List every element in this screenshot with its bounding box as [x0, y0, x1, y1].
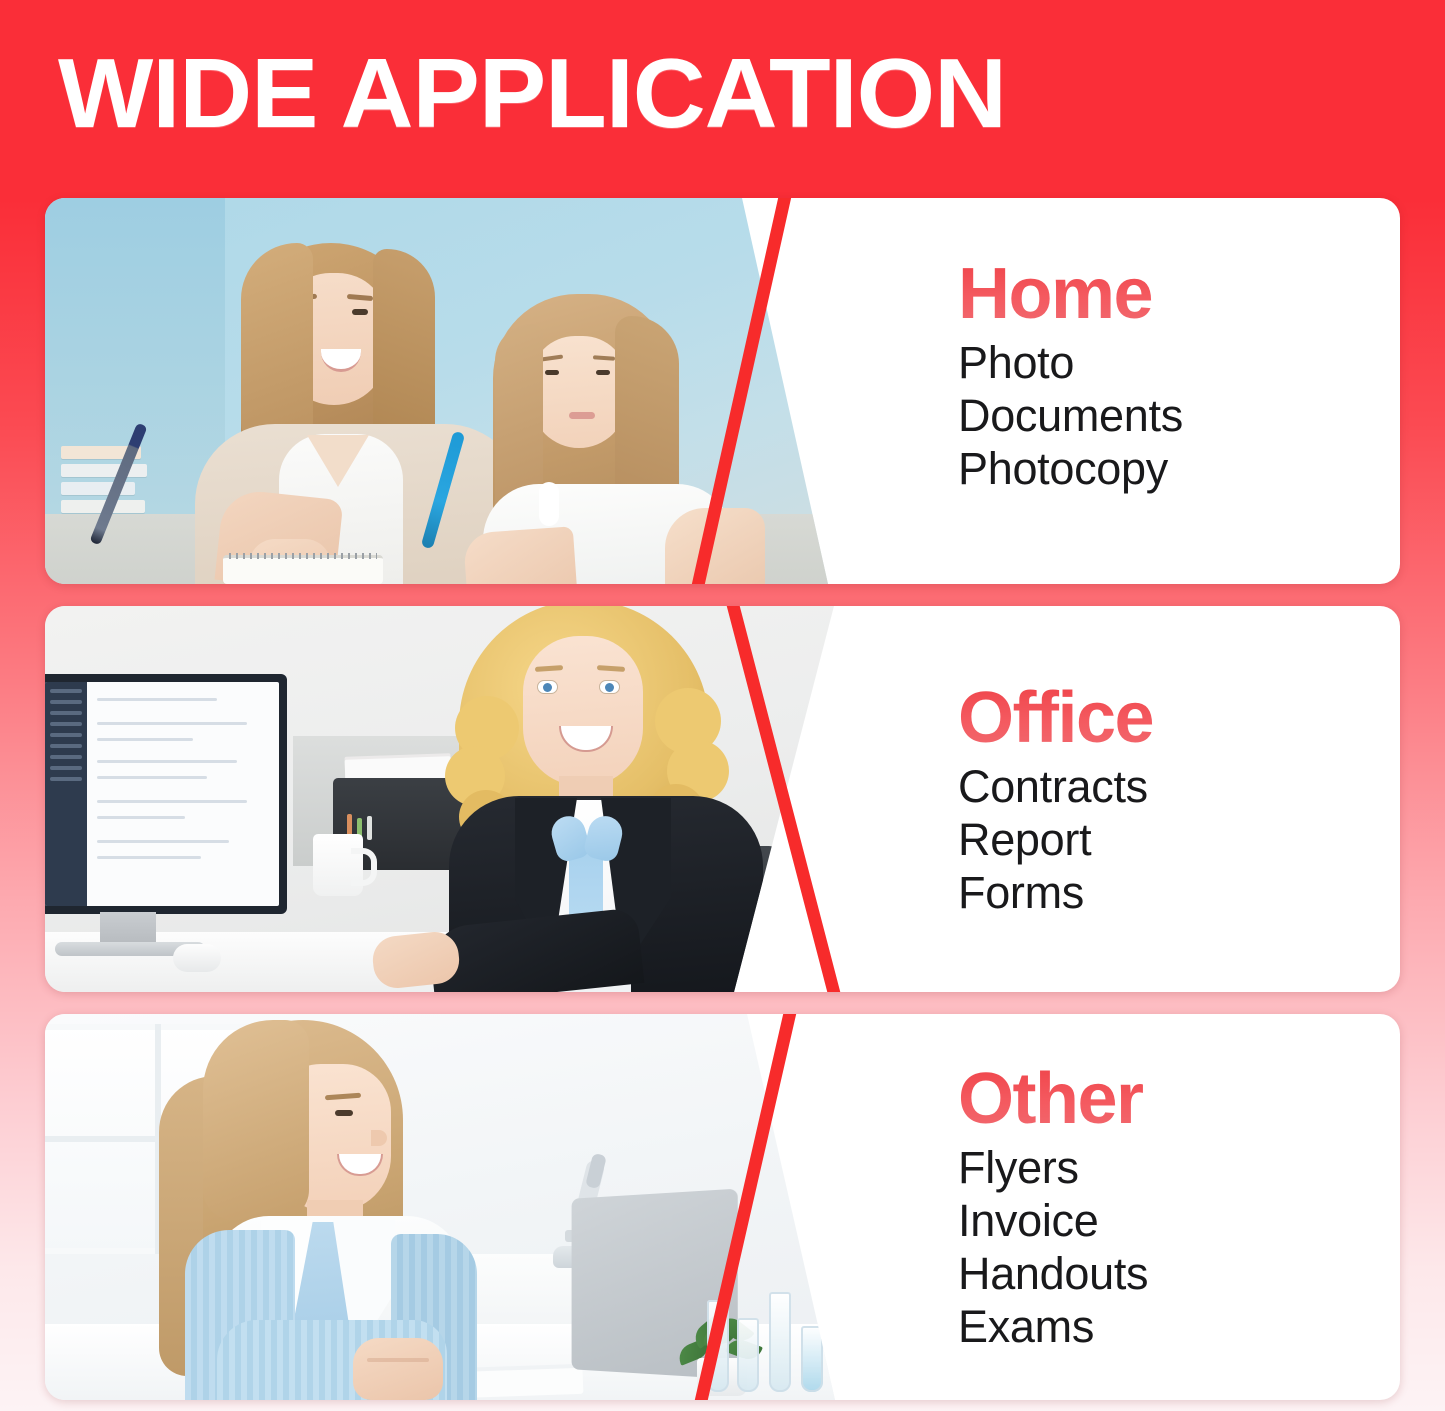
monitor-icon: [45, 674, 287, 914]
card-text-home: Home Photo Documents Photocopy: [920, 198, 1400, 584]
list-item: Photo: [958, 336, 1400, 389]
mouse-icon: [173, 944, 221, 972]
businesswoman-figure: [441, 606, 771, 992]
card-title-other: Other: [958, 1061, 1400, 1137]
card-list-home: Photo Documents Photocopy: [958, 336, 1400, 495]
list-item: Exams: [958, 1300, 1400, 1353]
photo-office-illustration: [45, 606, 845, 992]
card-photo-other: [45, 1014, 845, 1400]
notebook-icon: [223, 555, 383, 584]
application-card-other: Other Flyers Invoice Handouts Exams: [45, 1014, 1400, 1400]
page-title: WIDE APPLICATION: [58, 44, 1006, 142]
card-text-other: Other Flyers Invoice Handouts Exams: [920, 1014, 1400, 1400]
application-card-office: Office Contracts Report Forms: [45, 606, 1400, 992]
card-title-home: Home: [958, 256, 1400, 332]
application-card-home: Home Photo Documents Photocopy: [45, 198, 1400, 584]
card-list-office: Contracts Report Forms: [958, 760, 1400, 919]
list-item: Photocopy: [958, 442, 1400, 495]
card-text-office: Office Contracts Report Forms: [920, 606, 1400, 992]
list-item: Report: [958, 813, 1400, 866]
list-item: Forms: [958, 866, 1400, 919]
list-item: Handouts: [958, 1247, 1400, 1300]
lab-woman-figure: [157, 1020, 517, 1400]
header-banner: WIDE APPLICATION: [0, 0, 1445, 196]
card-title-office: Office: [958, 680, 1400, 756]
child-figure: [465, 294, 765, 584]
list-item: Invoice: [958, 1194, 1400, 1247]
list-item: Contracts: [958, 760, 1400, 813]
list-item: Documents: [958, 389, 1400, 442]
photo-other-illustration: [45, 1014, 845, 1400]
card-list-other: Flyers Invoice Handouts Exams: [958, 1141, 1400, 1353]
card-photo-office: [45, 606, 845, 992]
mug-icon: [313, 834, 363, 896]
list-item: Flyers: [958, 1141, 1400, 1194]
card-photo-home: [45, 198, 845, 584]
photo-home-illustration: [45, 198, 845, 584]
